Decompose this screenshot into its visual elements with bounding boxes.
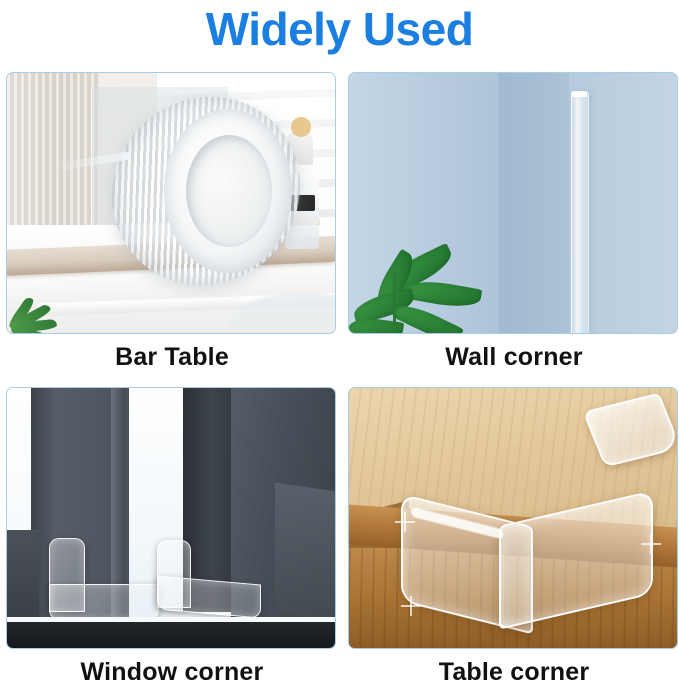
panel-caption: Table corner (348, 657, 679, 687)
tape-roll-core (186, 135, 272, 247)
sparkle-icon (395, 512, 415, 532)
corner-guard-strip (571, 91, 589, 333)
photo-window-corner (6, 387, 336, 649)
panel-caption: Bar Table (6, 342, 338, 372)
panel-caption: Window corner (6, 657, 338, 687)
sparkle-icon (401, 596, 421, 616)
panel-table-corner: Table corner (348, 387, 679, 687)
panel-window-corner: Window corner (6, 387, 338, 687)
photo-bar-table (6, 72, 336, 334)
photo-table-corner (348, 387, 678, 649)
potted-plant (351, 215, 481, 334)
corner-guard-left-horizontal (49, 584, 159, 620)
page-title: Widely Used (0, 2, 679, 56)
infographic-page: Widely Used (0, 0, 679, 676)
window-sill-left (7, 530, 39, 620)
panel-grid: Bar Table Wall corner (0, 72, 679, 676)
tape-roll (112, 97, 300, 285)
panel-wall-corner: Wall corner (348, 72, 679, 372)
potted-plant (6, 263, 65, 334)
panel-bar-table: Bar Table (6, 72, 338, 372)
plant-stem (393, 273, 396, 334)
corner-guard-strip-top (571, 91, 587, 97)
wall-corner-shadow (499, 73, 569, 333)
window-sill-bottom (7, 622, 335, 648)
sparkle-icon (641, 534, 661, 554)
photo-wall-corner (348, 72, 678, 334)
panel-caption: Wall corner (348, 342, 679, 372)
